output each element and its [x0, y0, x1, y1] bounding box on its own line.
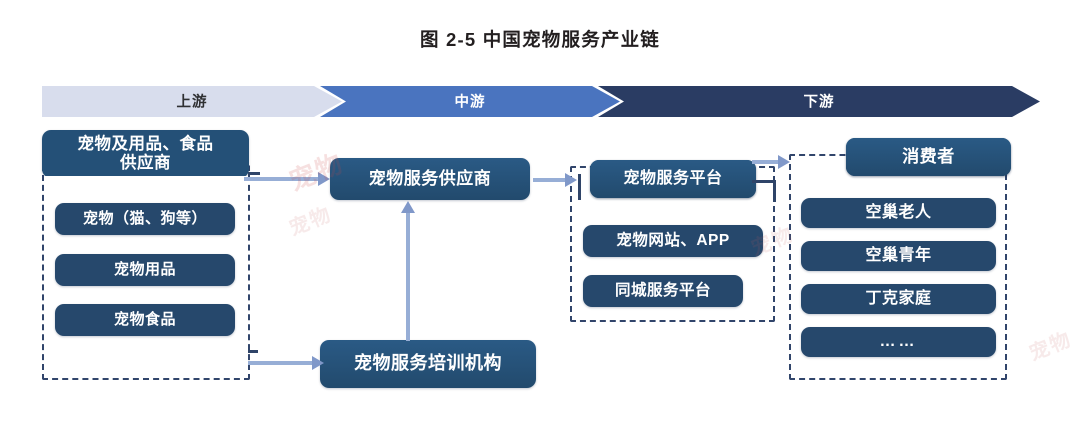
arrow-training-to-supplier: [401, 201, 415, 341]
banner-stage-upstream: 上游: [42, 86, 342, 117]
arrow-platform-to-consumer: [752, 155, 792, 169]
consumer-item-empty-nest-youth[interactable]: 空巢青年: [801, 241, 996, 271]
upstream-item-food[interactable]: 宠物食品: [55, 304, 235, 336]
consumer-header-label-top: 消费者: [902, 147, 955, 167]
consumer-item-dink-family-label: 丁克家庭: [865, 290, 931, 309]
banner-stage-midstream-label: 中游: [455, 91, 486, 112]
platform-header-node-top[interactable]: 宠物服务平台: [590, 160, 756, 198]
connector-upstream-bottom-stub: [248, 350, 258, 353]
connector-platform-right-stub-v: [773, 180, 776, 202]
upstream-header-node[interactable]: 宠物及用品、食品 供应商: [42, 130, 249, 178]
banner-stage-downstream-label: 下游: [804, 91, 835, 112]
platform-header-label-top: 宠物服务平台: [623, 170, 722, 189]
upstream-header-mask: [44, 176, 248, 184]
consumer-item-others[interactable]: ……: [801, 327, 996, 357]
connector-platform-left-stub: [578, 174, 581, 200]
midstream-training-label: 宠物服务培训机构: [354, 353, 502, 374]
consumer-item-empty-nest-youth-label: 空巢青年: [865, 247, 931, 266]
upstream-header-line1: 宠物及用品、食品: [78, 135, 214, 154]
midstream-supplier-node[interactable]: 宠物服务供应商: [330, 158, 530, 200]
platform-item-local-service[interactable]: 同城服务平台: [583, 275, 743, 307]
consumer-item-empty-nest-elderly[interactable]: 空巢老人: [801, 198, 996, 228]
midstream-supplier-label: 宠物服务供应商: [369, 169, 492, 189]
arrow-upstream-to-supplier: [244, 172, 332, 186]
platform-item-website-app-label: 宠物网站、APP: [616, 232, 729, 250]
platform-item-local-service-label: 同城服务平台: [615, 282, 711, 300]
platform-item-website-app[interactable]: 宠物网站、APP: [583, 225, 763, 257]
upstream-item-pets[interactable]: 宠物（猫、狗等）: [55, 203, 235, 235]
diagram-canvas: 图 2-5 中国宠物服务产业链 上游 中游 下游 宠物及用品、食品 供应商 宠物…: [0, 0, 1080, 431]
upstream-header-line2: 供应商: [120, 154, 171, 173]
consumer-item-others-label: ……: [880, 333, 918, 352]
upstream-item-supplies[interactable]: 宠物用品: [55, 254, 235, 286]
figure-title: 图 2-5 中国宠物服务产业链: [0, 26, 1080, 52]
watermark-4: 宠物: [1024, 323, 1076, 366]
midstream-training-node[interactable]: 宠物服务培训机构: [320, 340, 536, 388]
watermark-2: 宠物: [284, 198, 336, 241]
banner-stage-downstream: 下游: [598, 86, 1040, 117]
value-chain-banner: 上游 中游 下游: [42, 86, 1040, 117]
upstream-item-pets-label: 宠物（猫、狗等）: [83, 210, 207, 228]
upstream-item-supplies-label: 宠物用品: [114, 261, 176, 279]
arrow-supplier-to-platform: [533, 173, 579, 187]
consumer-item-dink-family[interactable]: 丁克家庭: [801, 284, 996, 314]
consumer-header-node-top[interactable]: 消费者: [846, 138, 1011, 176]
upstream-item-food-label: 宠物食品: [114, 311, 176, 329]
banner-stage-midstream: 中游: [320, 86, 620, 117]
banner-stage-upstream-label: 上游: [177, 91, 208, 112]
arrow-upstream-to-training: [248, 356, 326, 370]
consumer-item-empty-nest-elderly-label: 空巢老人: [865, 204, 931, 223]
